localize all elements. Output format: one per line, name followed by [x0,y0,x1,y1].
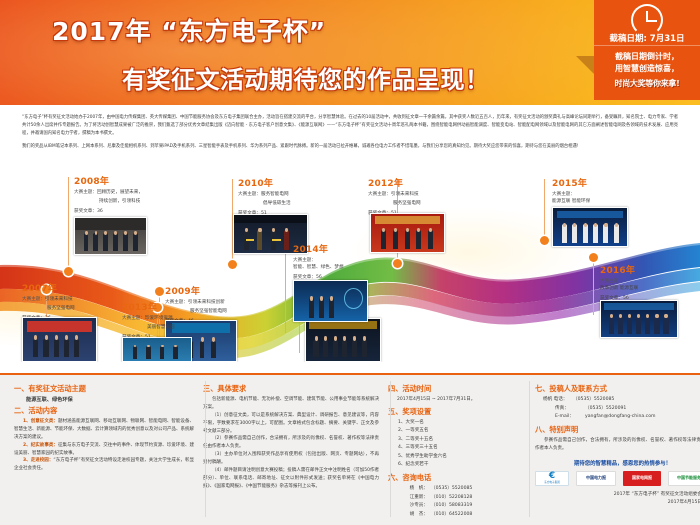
details-column-4: 七、投稿人及联系方式 杨帆 电话：（0535）5520085 传真：（0535）… [535,384,700,520]
section-3-req-3: （3）主办单位对入围和获奖作品享有使用权（包括出版、网页、专题网站），不再另付稿… [203,451,379,467]
timeline-node-2008[interactable] [64,267,73,276]
sponsor-logos: € 东方电子集团 中国电力报 国家电网报 中国节能服务 [535,471,700,486]
photo-content [23,318,96,361]
timeline-stem [68,177,69,272]
details-panel: 一、有奖征文活动主题 能源互联、绿色环保 二、活动内容 1、创意征文类：题材涵盖… [0,373,700,525]
details-columns: 一、有奖征文活动主题 能源互联、绿色环保 二、活动内容 1、创意征文类：题材涵盖… [14,384,686,520]
submitter-value: （0535）5520085 [573,396,614,405]
entry-theme-line2: 美丽智慧家园 [147,324,175,331]
timeline-stem [593,257,594,315]
item-1-label: 1、创意征文类： [23,419,58,424]
contact-row: 杨 帆：（0535）5520085 [396,485,526,494]
item-2-label: 2、纪实故事类： [23,443,58,448]
timeline-photo-2014 [293,280,368,322]
panel-slogan: 期待您的智慧精品，感恩您的热情参与！ [535,459,700,467]
entry-theme-label: 大赛主题： [368,191,391,198]
details-column-1: 一、有奖征文活动主题 能源互联、绿色环保 二、活动内容 1、创意征文类：题材涵盖… [14,384,194,520]
timeline-node-2015[interactable] [540,236,549,245]
timeline-entry-2016: 2016年 大赛主题： 改革创新 能源互联 获奖文章：56 [600,263,695,302]
entry-year: 2012年 [368,176,486,189]
entry-year: 2007年 [22,281,127,294]
section-7-heading: 七、投稿人及联系方式 [535,384,700,394]
entry-year: 2009年 [165,284,285,297]
section-3-req-4: （4）邮件题目请注明创意大赛投稿；投稿人需在邮件正文中注明姓名（可加50作者部分… [203,467,379,491]
timeline-photo-2015 [552,207,628,247]
section-5-heading: 五、奖项设置 [388,407,526,417]
timeline-section: 2007年 大赛主题：引领未来科技 服务坚强电网 获奖文章：26 2008年 大… [0,157,700,362]
entry-year: 2010年 [238,176,358,189]
timeline-entry-2012: 2012年 大赛主题：引领未来科技 服务坚强电网 获奖文章：51 [368,176,486,217]
section-8-heading: 八、特别声明 [535,425,700,435]
entry-theme-label: 大赛主题： [238,191,261,198]
corner-fold-decoration [576,56,594,74]
badge-line-2: 用智慧创造惊喜， [598,63,696,75]
entry-year: 2008年 [74,174,199,187]
photo-content [75,218,146,254]
logo-caption: 东方电子集团 [544,482,560,485]
badge-line-1: 截稿日期倒计时， [598,51,696,63]
entry-theme-line1: 改革创新 能源互联 [600,285,638,292]
intro-paragraph-1: “东方电子”杯有奖征文活动始办于2007年，由中国电力传媒集团、英大传媒集团、中… [22,114,678,138]
entry-count-label: 获奖文章： [74,209,97,214]
award-item: 4、三等奖三十五名 [398,444,526,452]
entry-year: 2015年 [552,176,672,189]
header-title-line1: 2017年 “东方电子杯” [52,12,490,48]
entry-year: 2014年 [293,242,408,255]
entry-theme-line1: 回顾历史，展望未来， [97,189,143,196]
column-divider [529,381,530,517]
section-2-item-3: 3、走进校园：“东方电子杯”有奖征文活动特设走进校园专题，关注大学生成长，彰显企… [14,457,194,473]
intro-text-block: “东方电子”杯有奖征文活动始办于2007年，由中国电力传媒集团、英大传媒集团、中… [0,105,700,155]
timeline-photo-2007 [22,317,97,362]
submitter-email: yangfan@dongfang-china.com [585,413,655,422]
entry-theme-line2: 持续创新，引领科技 [99,198,140,205]
contact-name: 江重新： [396,494,428,503]
item-3-label: 3、走进校园： [23,458,53,463]
submitter-value: （0535）5520091 [585,405,626,414]
award-item: 1、大奖一名 [398,419,526,427]
awards-list: 1、大奖一名 2、一等奖五名 3、二等奖十五名 4、三等奖三十五名 5、优秀学生… [398,419,526,470]
deadline-badge: 截稿日期: 7月31日 截稿日期倒计时， 用智慧创造惊喜， 时尚大奖等你来拿! [594,0,700,100]
contact-phone: （010）52208128 [431,494,472,503]
section-3-req-2: （2）参赛作品需自己创作，合法拥有，所涉及的肖像权、名誉权、著作权等法律责任由作… [203,435,379,451]
photo-content [294,281,367,321]
timeline-photo-2011 [305,318,381,362]
entry-theme-line2: 服务坚强电网 [393,200,421,207]
header-title-line2: 有奖征文活动期待您的作品呈现！ [122,60,490,95]
timeline-entry-2010: 2010年 大赛主题：服务智能电网 倡导低碳生活 获奖文章：51 [238,176,358,217]
badge-deadline-text: 截稿日期: 7月31日 [594,32,700,44]
entry-year: 2016年 [600,263,695,276]
badge-message-block: 截稿日期倒计时， 用智慧创造惊喜， 时尚大奖等你来拿! [594,46,700,90]
timeline-entry-2007: 2007年 大赛主题：引领未来科技 服务坚强电网 获奖文章：26 [22,281,127,322]
entry-theme-line1: 智能、智慧、绿色、梦想 [293,264,344,271]
submitter-label: 杨帆 电话： [543,396,573,405]
submitter-contact-list: 杨帆 电话：（0535）5520085 传真：（0535）5520091 E-m… [543,396,700,422]
entry-count-value: 36 [97,209,103,214]
timeline-photo-2013 [122,337,192,362]
contact-row: 胡 杰：（010）64522008 [396,511,526,520]
contact-name: 杨 帆： [396,485,428,494]
photo-content [123,338,191,361]
section-2-item-1: 1、创意征文类：题材涵盖能源互联网、移动互联网、物联网、智能电网、智能设备、智慧… [14,418,194,442]
section-2-item-2: 2、纪实故事类：征集与东方电子交流、交往中的事件、体现节约资源、珍爱环境、建设美… [14,442,194,458]
intro-paragraph-2: 我们的奖品从IBM笔记本系列、上网本系列、尼康及佳能相机系列、到苹果iPAD及手… [22,143,678,151]
section-6-heading: 六、咨询电话 [388,473,526,483]
entry-theme-label: 大赛主题： [74,189,97,196]
poster-root: 2017年 “东方电子杯” 有奖征文活动期待您的作品呈现！ 截稿日期: 7月31… [0,0,700,525]
photo-content [601,301,677,337]
timeline-entry-2013-main: 2013年 大赛主题：珍爱环境资源 美丽智慧家园 获奖文章：51 [122,300,242,341]
photo-content [553,208,627,246]
section-3-heading: 三、具体要求 [203,384,379,394]
submitter-row: 杨帆 电话：（0535）5520085 [543,396,700,405]
dongfang-electronics-logo: € 东方电子集团 [535,471,569,486]
photo-content [306,319,380,361]
details-column-2: 三、具体要求 包括新能源、电机节能、无功补偿、空调节能、建筑节能、公用事业节能等… [203,384,379,520]
badge-top-section: 截稿日期: 7月31日 [594,0,700,46]
timeline-entry-2014: 2014年 大赛主题： 智能、智慧、绿色、梦想 获奖文章：56 [293,242,408,281]
award-item: 6、纪念奖若干 [398,461,526,469]
timeline-node-2010[interactable] [228,260,237,269]
poster-header: 2017年 “东方电子杯” 有奖征文活动期待您的作品呈现！ 截稿日期: 7月31… [0,0,700,105]
entry-theme-line1: 服务智能电网 [261,191,289,198]
china-electric-power-news-logo: 中国电力报 [576,471,616,486]
section-8-text: 参赛作品需自己创作，合法拥有，所涉及的肖像权、名誉权、著作权等法律责任由作者本人… [535,437,700,453]
submitter-row: E-mail：yangfan@dongfang-china.com [555,413,700,422]
contact-phone: （010）64522008 [431,511,472,520]
entry-theme-label: 大赛主题： [552,191,575,198]
award-item: 5、优秀学生助学金六名 [398,453,526,461]
award-item: 2、一等奖五名 [398,427,526,435]
contact-row: 江重新：（010）52208128 [396,494,526,503]
column-divider [390,381,391,517]
submitter-label: E-mail： [555,413,585,422]
china-energy-saving-logo: 中国节能服务 [668,471,700,486]
entry-theme-line2: 服务坚强电网 [47,305,75,312]
section-1-theme: 能源互联、绿色环保 [26,396,194,403]
section-1-heading: 一、有奖征文活动主题 [14,384,194,394]
entry-theme-line1: 珍爱环境资源 [145,315,173,322]
timeline-entry-2008: 2008年 大赛主题：回顾历史，展望未来， 持续创新，引领科技 获奖文章：36 [74,174,199,215]
timeline-stem [544,179,545,241]
contact-row: 沙专员：（010）58083319 [396,502,526,511]
timeline-node-2016[interactable] [589,253,598,262]
contact-name: 沙专员： [396,502,428,511]
organizer-signature: 2017年 “东方电子杯” 有奖征文活动组委会 2017年4月15日 [535,491,700,507]
section-3-req-1: （1）创意征文类，可以是系统解决方案、典型设计、调研报告、意见建议等，内容不限，… [203,412,379,436]
timeline-photo-2016 [600,300,678,338]
signature-line-2: 2017年4月15日 [535,499,700,507]
submitter-label: 传真： [555,405,585,414]
entry-theme-label: 大赛主题： [22,296,45,303]
badge-highlight-text: 时尚大奖等你来拿! [598,78,696,90]
section-3-intro: 包括新能源、电机节能、无功补偿、空调节能、建筑节能、公用事业节能等系统解决方案。 [203,396,379,412]
entry-theme-label: 大赛主题： [600,278,623,285]
contact-phone: （0535）5520085 [431,485,472,494]
contact-name: 胡 杰： [396,511,428,520]
section-4-heading: 四、活动时间 [388,384,526,394]
entry-count-row: 获奖文章：36 [74,208,199,214]
entry-theme-line1: 引领未来科技 [391,191,419,198]
signature-line-1: 2017年 “东方电子杯” 有奖征文活动组委会 [535,491,700,499]
column-divider [205,381,206,517]
entry-theme-label: 大赛主题： [122,315,145,322]
section-2-heading: 二、活动内容 [14,406,194,416]
entry-year: 2013年 [122,300,242,313]
award-item: 3、二等奖十五名 [398,436,526,444]
details-column-3: 四、活动时间 2017年4月15日 ~ 2017年7月31日。 五、奖项设置 1… [388,384,526,520]
entry-theme-line2: 倡导低碳生活 [263,200,291,207]
timeline-node-2009[interactable] [155,287,164,296]
contact-phone: （010）58083319 [431,502,472,511]
section-4-value: 2017年4月15日 ~ 2017年7月31日。 [388,396,526,404]
entry-theme-line1: 引领未来科技 [45,296,73,303]
state-grid-news-logo: 国家电网报 [623,471,661,486]
entry-theme-label: 大赛主题： [293,257,316,264]
timeline-photo-2008 [74,217,147,255]
submitter-row: 传真：（0535）5520091 [555,405,700,414]
entry-theme-line1: 能源互联 智能环保 [552,198,590,205]
header-title-block: 2017年 “东方电子杯” 有奖征文活动期待您的作品呈现！ [52,12,490,95]
